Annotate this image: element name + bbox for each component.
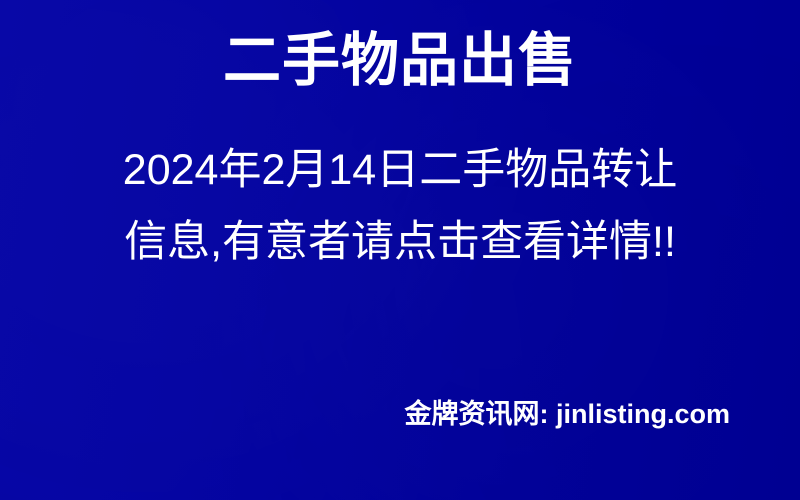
site-attribution: 金牌资讯网: jinlisting.com [404,398,730,430]
announcement-line-1: 2024年2月14日二手物品转让 [0,134,800,206]
announcement-body: 2024年2月14日二手物品转让 信息,有意者请点击查看详情!! [0,134,800,278]
page-title: 二手物品出售 [0,26,800,96]
announcement-line-2: 信息,有意者请点击查看详情!! [0,206,800,278]
promo-poster: 二手物品出售 2024年2月14日二手物品转让 信息,有意者请点击查看详情!! … [0,0,800,500]
